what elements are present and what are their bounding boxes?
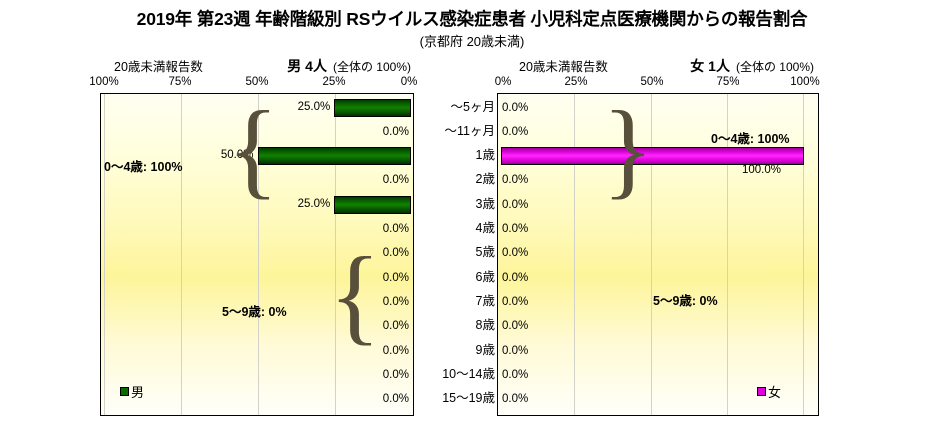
bar-value-label: 50.0% [221,148,254,162]
group-note-0-4-female: 0〜4歳: 100% [711,128,790,147]
male-legend-label: 男 [131,382,144,401]
female-chart-panel: 0.0%0.0%100.0%0.0%0.0%0.0%0.0%0.0%0.0%0.… [497,93,819,416]
bar-row: 25.0% [101,96,413,120]
left-panel-header: 20歳未満報告数 男 4人 (全体の 100%) [100,56,413,72]
bar-value-label: 25.0% [298,100,331,114]
right-tick-0: 0% [495,76,512,88]
right-total-note: (全体の 100%) [736,58,814,75]
bar[interactable] [258,147,412,165]
bar-row: 0.0% [498,314,818,338]
bar-value-label: 0.0% [502,392,528,406]
bar-row: 0.0% [101,241,413,265]
left-axis-ticks: 100% 75% 50% 25% 0% [100,76,413,91]
right-tick-3: 75% [716,76,739,88]
category-label: 5歳 [476,240,495,264]
category-label: 7歳 [476,289,495,313]
bar-row: 0.0% [498,217,818,241]
bar-value-label: 0.0% [502,344,528,358]
bar-value-label: 0.0% [502,173,528,187]
right-sex-count: 女 1人 [690,56,730,76]
bar-value-label: 0.0% [502,271,528,285]
right-tick-1: 25% [564,76,587,88]
bar-row: 0.0% [498,96,818,120]
bar-row: 0.0% [498,193,818,217]
left-report-label: 20歳未満報告数 [114,56,203,75]
bar-row: 0.0% [498,241,818,265]
right-axis-ticks: 0% 25% 50% 75% 100% [497,76,818,91]
group-note-5-9-male: 5〜9歳: 0% [222,301,287,320]
bar-row: 0.0% [498,266,818,290]
bar[interactable] [334,196,411,214]
category-label: 2歳 [476,167,495,191]
category-label: 8歳 [476,313,495,337]
bar-row: 25.0% [101,193,413,217]
bar-value-label: 0.0% [383,271,409,285]
bar-row: 0.0% [498,339,818,363]
bar-value-label: 0.0% [383,344,409,358]
bar-row: 0.0% [101,339,413,363]
bar[interactable] [334,99,411,117]
bar-value-label: 0.0% [502,198,528,212]
bar-value-label: 0.0% [502,295,528,309]
bar-value-label: 0.0% [502,319,528,333]
bar-row: 0.0% [101,266,413,290]
category-label: 〜11ヶ月 [445,119,495,143]
bar-value-label: 0.0% [383,173,409,187]
category-label: 4歳 [476,216,495,240]
female-legend-label: 女 [768,382,781,401]
bar-value-label: 0.0% [383,222,409,236]
left-total-note: (全体の 100%) [333,58,411,75]
bar-row: 0.0% [101,120,413,144]
group-note-5-9-female: 5〜9歳: 0% [653,290,718,309]
bar-value-label: 0.0% [502,222,528,236]
bar-row: 0.0% [101,387,413,411]
category-label: 1歳 [476,143,495,167]
left-tick-1: 75% [168,76,191,88]
bar-row: 100.0% [498,144,818,168]
bar-value-label: 0.0% [383,295,409,309]
right-tick-2: 50% [640,76,663,88]
bar-value-label: 25.0% [298,197,331,211]
group-note-0-4-male: 0〜4歳: 100% [104,156,183,175]
category-label: 3歳 [476,192,495,216]
female-legend-swatch-icon [757,387,766,396]
left-tick-4: 0% [401,76,418,88]
bar-row: 0.0% [498,168,818,192]
bar-value-label: 0.0% [383,392,409,406]
male-chart-panel: 25.0%0.0%50.0%0.0%25.0%0.0%0.0%0.0%0.0%0… [100,93,414,416]
bar-value-label: 0.0% [502,125,528,139]
bar-row: 0.0% [101,363,413,387]
bar-value-label: 0.0% [383,246,409,260]
category-label: 9歳 [476,338,495,362]
right-tick-4: 100% [790,76,819,88]
bar-value-label: 0.0% [383,125,409,139]
category-label: 10〜14歳 [442,362,495,386]
category-label: 15〜19歳 [442,386,495,410]
male-legend-swatch-icon [120,387,129,396]
bar-value-label: 0.0% [502,101,528,115]
bar-value-label: 0.0% [502,368,528,382]
category-axis-labels: 〜5ヶ月〜11ヶ月1歳2歳3歳4歳5歳6歳7歳8歳9歳10〜14歳15〜19歳 [414,93,497,416]
left-sex-count: 男 4人 [287,56,327,76]
female-legend: 女 [757,382,781,401]
left-tick-0: 100% [89,76,118,88]
category-label: 6歳 [476,265,495,289]
male-legend: 男 [120,382,144,401]
right-report-label: 20歳未満報告数 [519,56,608,75]
left-tick-3: 25% [322,76,345,88]
bar-value-label: 0.0% [383,319,409,333]
category-label: 〜5ヶ月 [451,95,495,119]
left-tick-2: 50% [245,76,268,88]
page-subtitle: (京都府 20歳未満) [0,31,944,50]
bar-value-label: 0.0% [502,246,528,260]
page-title: 2019年 第23週 年齢階級別 RSウイルス感染症患者 小児科定点医療機関から… [0,6,944,31]
bar-row: 0.0% [101,217,413,241]
bar-value-label: 0.0% [383,368,409,382]
right-panel-header: 20歳未満報告数 女 1人 (全体の 100%) [497,56,818,72]
